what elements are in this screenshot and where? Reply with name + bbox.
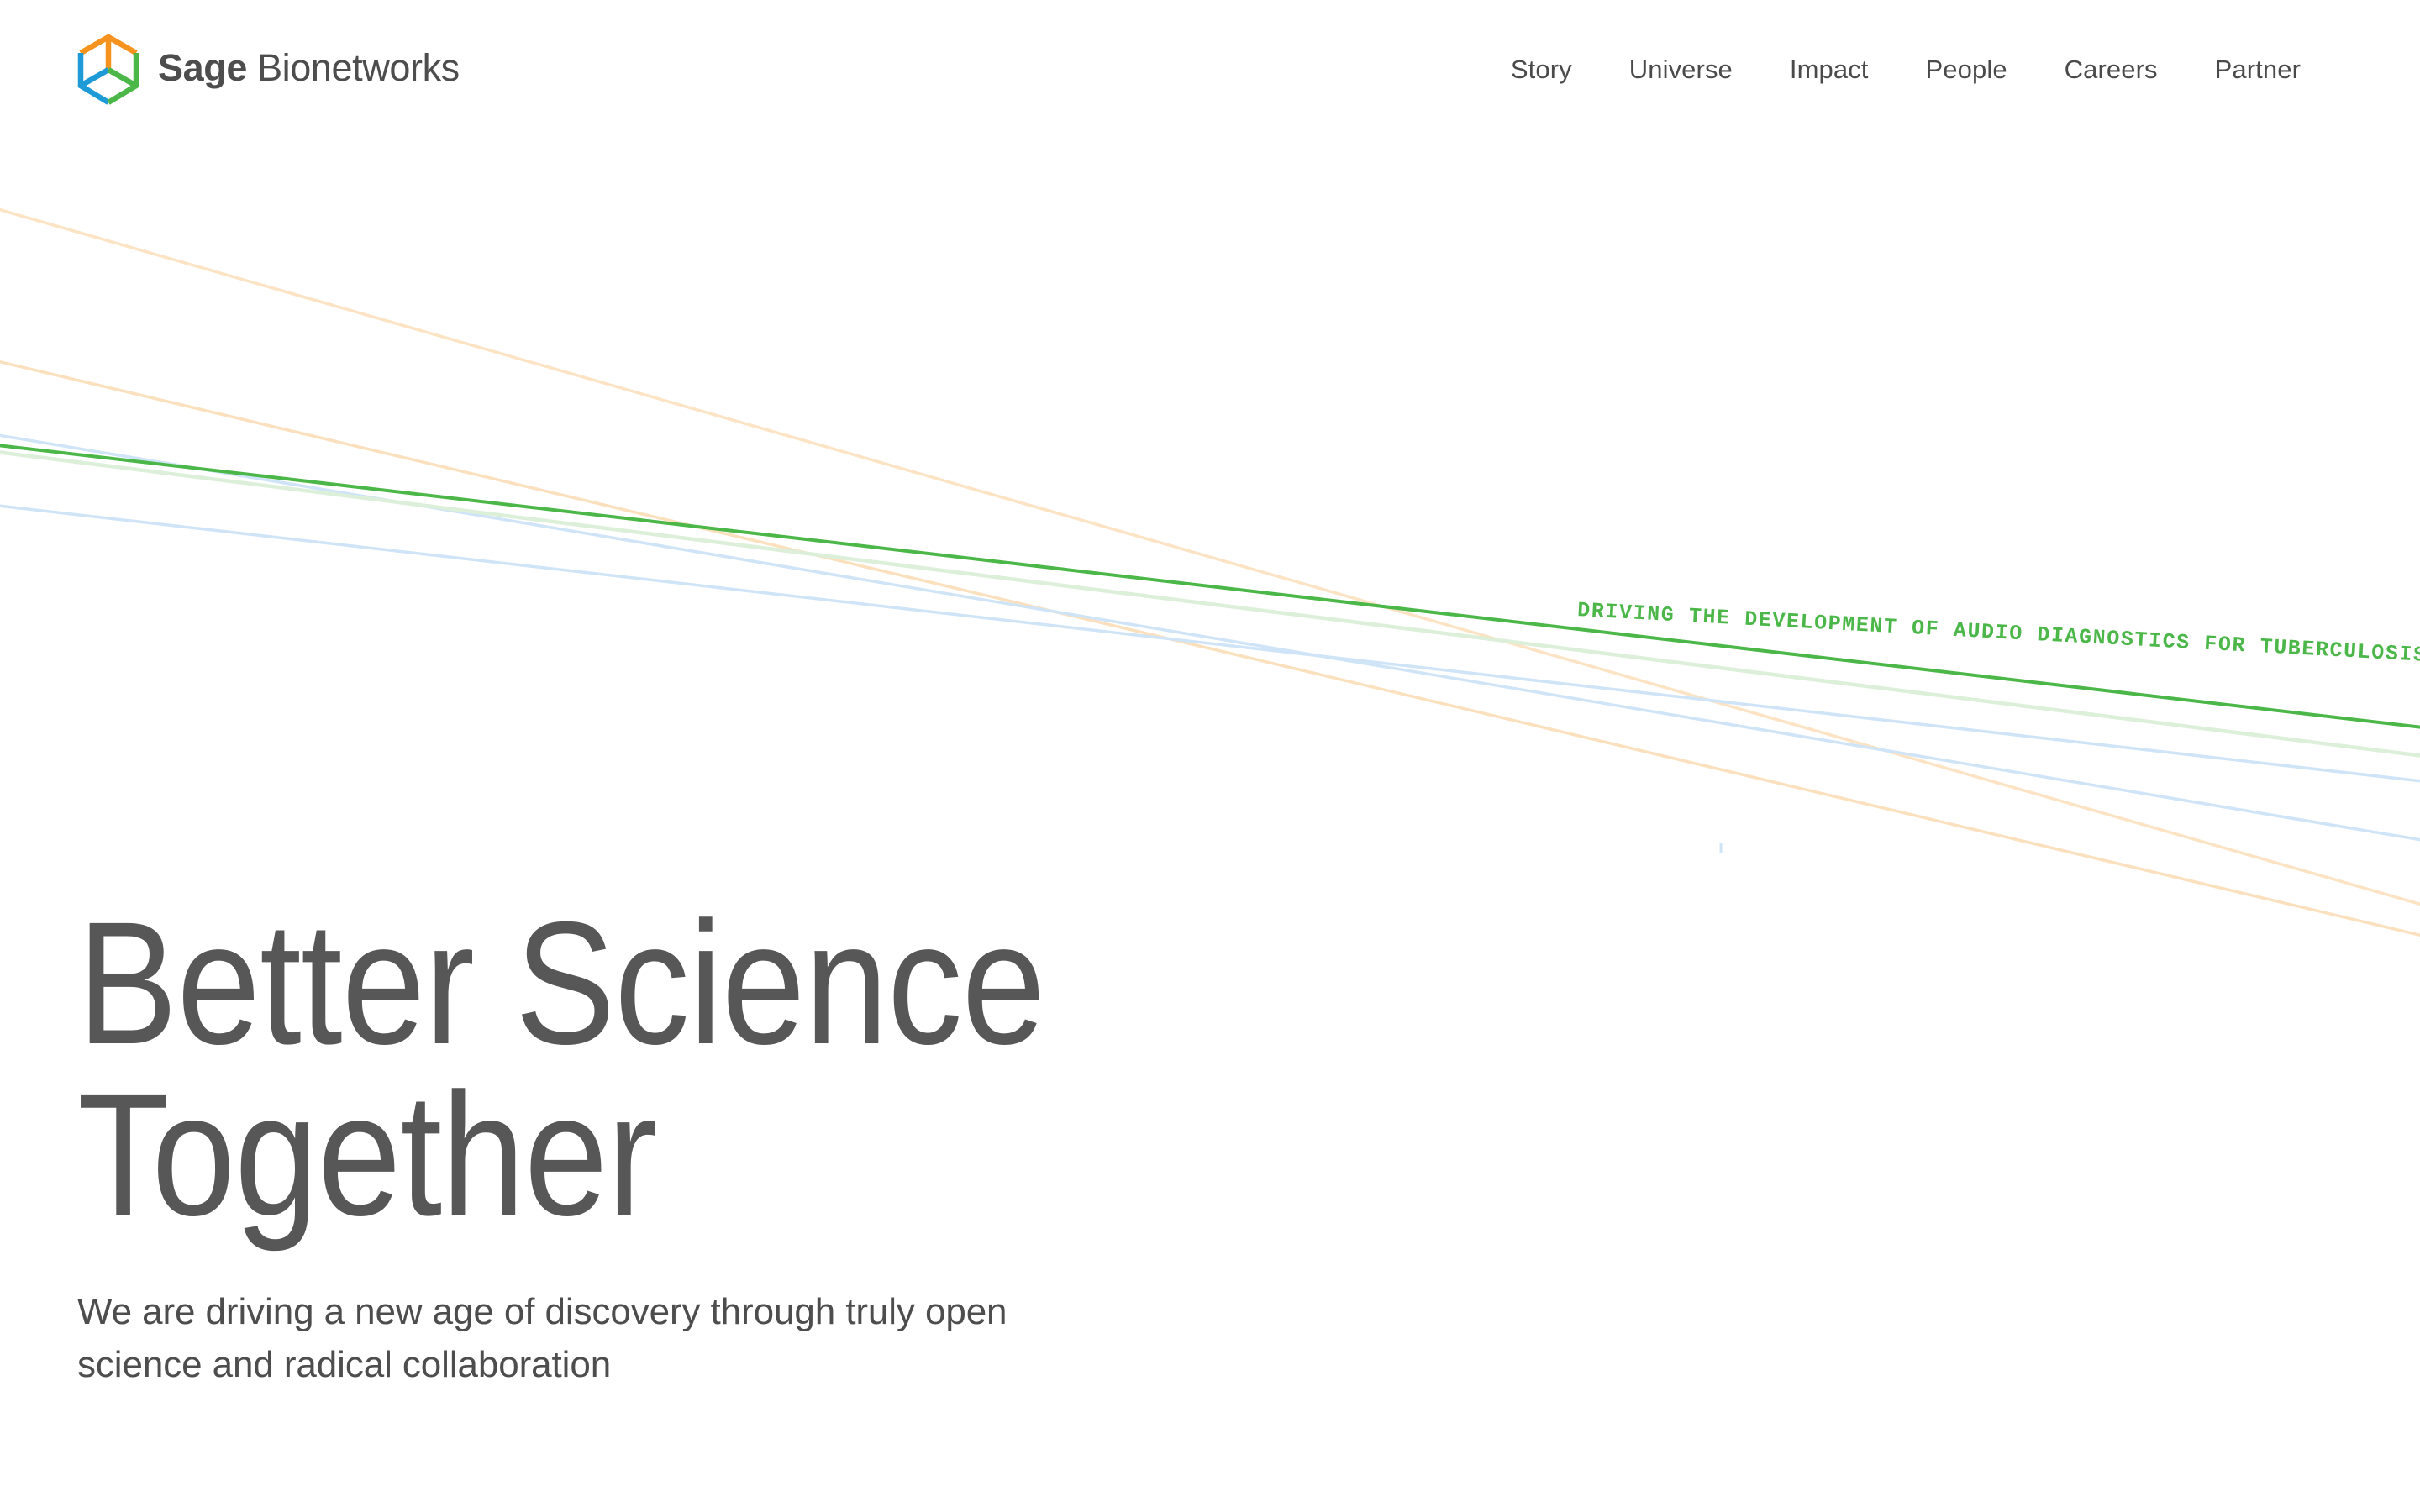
green-faint-line: [0, 450, 2420, 758]
hero-subtitle: We are driving a new age of discovery th…: [77, 1285, 1195, 1393]
nav-item-impact[interactable]: Impact: [1761, 46, 1897, 92]
orange-upper-line: [0, 205, 2420, 909]
green-strong-line: [0, 444, 2420, 729]
nav-item-story[interactable]: Story: [1482, 46, 1601, 92]
main-navigation: Story Universe Impact People Careers Par…: [1482, 46, 2339, 92]
brand-name-light: Bionetworks: [247, 46, 460, 89]
nav-item-careers[interactable]: Careers: [2036, 46, 2186, 92]
nav-item-universe[interactable]: Universe: [1601, 46, 1761, 92]
nav-item-people[interactable]: People: [1897, 46, 2036, 92]
brand-name-strong: Sage: [158, 46, 247, 89]
hero-title: Better Science Together: [77, 899, 1161, 1242]
nav-item-partner[interactable]: Partner: [2186, 46, 2329, 92]
hero-section: Better Science Together We are driving a…: [77, 899, 1338, 1392]
sage-hexagon-arrows-logo-icon: [77, 34, 139, 106]
orange-lower-line: [0, 358, 2420, 939]
landing-page: Sage Bionetworks Story Universe Impact P…: [0, 0, 2420, 1512]
brand-wordmark: Sage Bionetworks: [158, 49, 460, 90]
brand-logo-link[interactable]: Sage Bionetworks: [77, 34, 460, 106]
green-line-annotation: DRIVING THE DEVELOPMENT OF AUDIO DIAGNOS…: [1576, 598, 2420, 668]
site-header: Sage Bionetworks Story Universe Impact P…: [0, 0, 2420, 139]
